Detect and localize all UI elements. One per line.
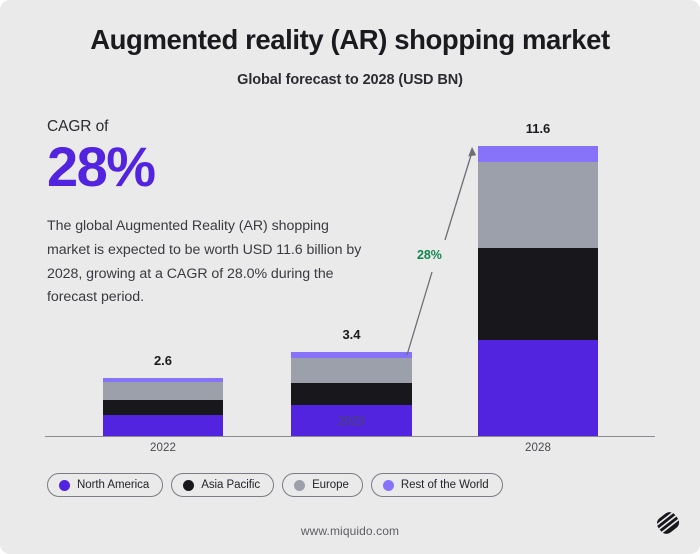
bar-segment-rest-of-the-world-2022[interactable] xyxy=(103,378,223,382)
legend-dot-icon-asia-pacific xyxy=(183,480,194,491)
bar-total-label-2023: 3.4 xyxy=(291,327,412,342)
legend-dot-icon-north-america xyxy=(59,480,70,491)
legend-item-north-america[interactable]: North America xyxy=(47,473,163,497)
bar-segment-europe-2023[interactable] xyxy=(291,358,412,383)
legend-label-europe: Europe xyxy=(312,479,349,491)
bar-segment-europe-2022[interactable] xyxy=(103,382,223,400)
cagr-label: CAGR of xyxy=(47,118,377,136)
bar-segment-asia-pacific-2022[interactable] xyxy=(103,400,223,415)
legend-dot-icon-europe xyxy=(294,480,305,491)
bar-total-label-2022: 2.6 xyxy=(103,353,223,368)
cagr-arrow-label: 28% xyxy=(417,248,442,262)
bar-segment-north-america-2028[interactable] xyxy=(478,340,598,436)
legend-item-europe[interactable]: Europe xyxy=(282,473,363,497)
bar-category-label-2022: 2022 xyxy=(103,442,223,454)
bar-segment-north-america-2022[interactable] xyxy=(103,415,223,436)
bar-segment-europe-2028[interactable] xyxy=(478,162,598,248)
bar-group-2022[interactable]: 2.6 2022 xyxy=(103,378,223,436)
bar-segment-asia-pacific-2028[interactable] xyxy=(478,248,598,340)
footer-url[interactable]: www.miquido.com xyxy=(0,524,700,538)
bar-segment-asia-pacific-2023[interactable] xyxy=(291,383,412,405)
legend-label-rest-of-the-world: Rest of the World xyxy=(401,479,489,491)
page-title: Augmented reality (AR) shopping market xyxy=(0,24,700,56)
legend-label-north-america: North America xyxy=(77,479,149,491)
bar-segment-rest-of-the-world-2023[interactable] xyxy=(291,352,412,358)
infographic-canvas: Augmented reality (AR) shopping market G… xyxy=(0,0,700,554)
bar-segment-north-america-2023[interactable] xyxy=(291,405,412,436)
bar-group-2023[interactable]: 3.4 2023 xyxy=(291,352,412,436)
bar-segment-rest-of-the-world-2028[interactable] xyxy=(478,146,598,162)
bar-category-label-2028: 2028 xyxy=(478,442,598,454)
bar-group-2028[interactable]: 11.6 2028 xyxy=(478,146,598,436)
page-subtitle: Global forecast to 2028 (USD BN) xyxy=(0,72,700,88)
legend-dot-icon-rest-of-the-world xyxy=(383,480,394,491)
cagr-highlight-block: CAGR of 28% The global Augmented Reality… xyxy=(47,118,377,310)
chart-axis-line xyxy=(45,436,655,437)
bar-total-label-2028: 11.6 xyxy=(478,121,598,136)
cagr-value: 28% xyxy=(47,138,377,197)
chart-legend: North America Asia Pacific Europe Rest o… xyxy=(47,473,503,497)
miquido-logo-icon xyxy=(653,508,683,538)
legend-item-rest-of-the-world[interactable]: Rest of the World xyxy=(371,473,503,497)
legend-item-asia-pacific[interactable]: Asia Pacific xyxy=(171,473,274,497)
market-description: The global Augmented Reality (AR) shoppi… xyxy=(47,215,372,310)
legend-label-asia-pacific: Asia Pacific xyxy=(201,479,260,491)
bar-category-label-2023: 2023 xyxy=(291,416,412,428)
